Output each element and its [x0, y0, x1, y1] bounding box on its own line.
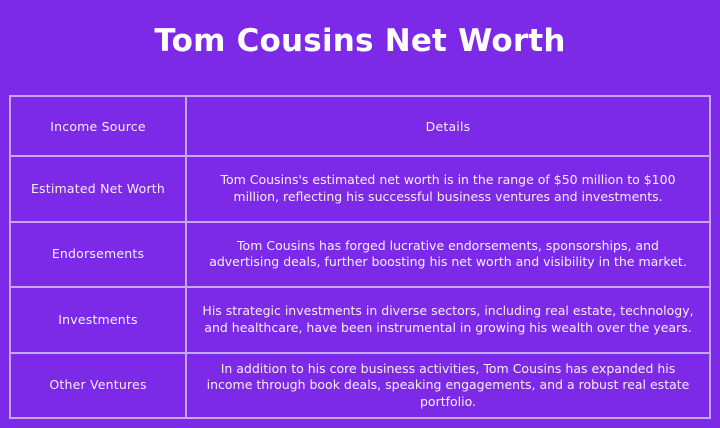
- net-worth-table: Income Source Details Estimated Net Wort…: [9, 95, 711, 419]
- table-row: Estimated Net Worth Tom Cousins's estima…: [10, 156, 710, 222]
- column-header-details: Details: [186, 96, 710, 156]
- table-row: Endorsements Tom Cousins has forged lucr…: [10, 222, 710, 288]
- cell-details: Tom Cousins has forged lucrative endorse…: [186, 222, 710, 288]
- table-header: Income Source Details: [10, 96, 710, 156]
- column-header-income-source: Income Source: [10, 96, 186, 156]
- cell-details: Tom Cousins's estimated net worth is in …: [186, 156, 710, 222]
- table-row: Other Ventures In addition to his core b…: [10, 353, 710, 419]
- net-worth-table-container: Income Source Details Estimated Net Wort…: [9, 95, 711, 419]
- table-row: Investments His strategic investments in…: [10, 287, 710, 353]
- cell-income-source: Estimated Net Worth: [10, 156, 186, 222]
- cell-income-source: Other Ventures: [10, 353, 186, 419]
- table-body: Estimated Net Worth Tom Cousins's estima…: [10, 156, 710, 418]
- cell-details: In addition to his core business activit…: [186, 353, 710, 419]
- page-title: Tom Cousins Net Worth: [0, 0, 720, 57]
- cell-details: His strategic investments in diverse sec…: [186, 287, 710, 353]
- cell-income-source: Investments: [10, 287, 186, 353]
- page-root: Tom Cousins Net Worth Income Source Deta…: [0, 0, 720, 428]
- table-header-row: Income Source Details: [10, 96, 710, 156]
- cell-income-source: Endorsements: [10, 222, 186, 288]
